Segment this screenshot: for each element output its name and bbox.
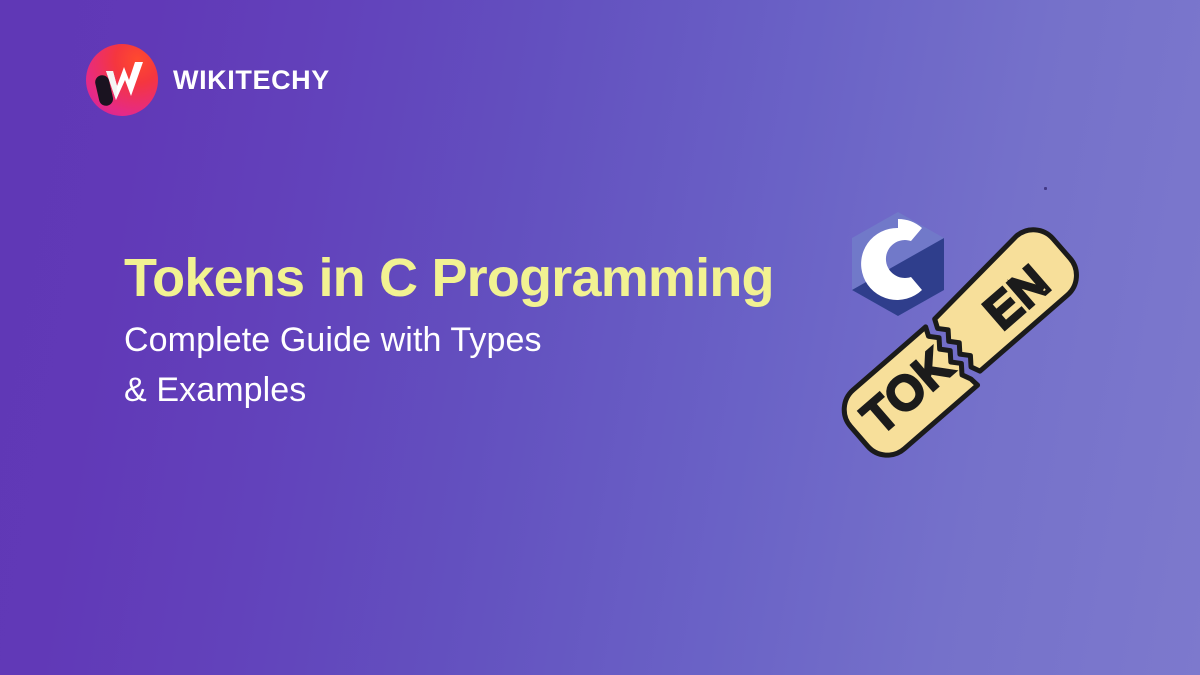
subtitle-line-2: & Examples: [124, 366, 864, 415]
hero-illustration: TOK EN: [830, 160, 1130, 490]
dot-speck-icon: [1044, 187, 1047, 190]
subtitle-line-1: Complete Guide with Types: [124, 316, 864, 365]
banner-hero: WIKITECHY Tokens in C Programming Comple…: [0, 0, 1200, 675]
brand-lockup[interactable]: WIKITECHY: [86, 44, 330, 116]
page-title: Tokens in C Programming: [124, 248, 864, 308]
wikitechy-w-logo-icon: [86, 44, 158, 116]
c-language-hexagon-logo-icon: [852, 212, 944, 316]
brand-name: WIKITECHY: [173, 67, 330, 94]
page-subtitle: Complete Guide with Types & Examples: [124, 316, 864, 415]
headline-block: Tokens in C Programming Complete Guide w…: [124, 248, 864, 415]
